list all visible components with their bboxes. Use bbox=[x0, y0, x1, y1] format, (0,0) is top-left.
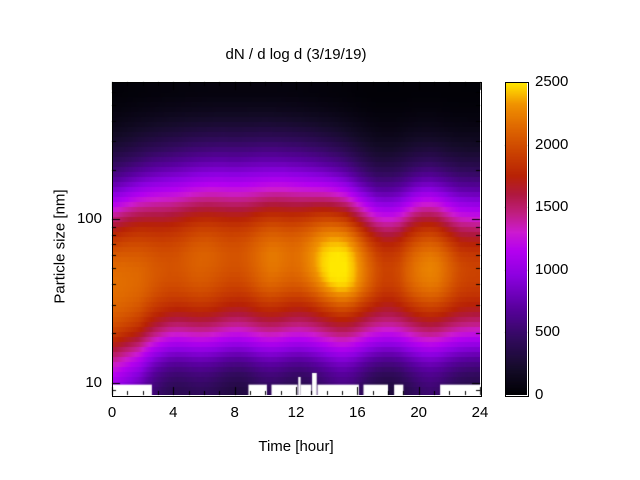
x-tick-label: 16 bbox=[327, 404, 387, 421]
heatmap-canvas bbox=[112, 82, 480, 395]
colorbar-tick-label: 1500 bbox=[535, 198, 568, 215]
colorbar-tick-label: 500 bbox=[535, 323, 560, 340]
x-tick-label: 12 bbox=[266, 404, 326, 421]
x-tick-label: 0 bbox=[82, 404, 142, 421]
colorbar-tick-label: 1000 bbox=[535, 261, 568, 278]
y-axis-label: Particle size [nm] bbox=[52, 147, 69, 347]
x-axis-label: Time [hour] bbox=[112, 438, 480, 455]
colorbar-tick-label: 0 bbox=[535, 386, 543, 403]
x-tick-label: 8 bbox=[205, 404, 265, 421]
x-tick-label: 24 bbox=[450, 404, 510, 421]
colorbar bbox=[505, 82, 527, 395]
x-tick-label: 20 bbox=[389, 404, 449, 421]
chart-figure: dN / d log d (3/19/19) Time [hour] Parti… bbox=[0, 0, 640, 480]
colorbar-canvas bbox=[505, 82, 527, 395]
y-tick-label: 100 bbox=[42, 210, 102, 227]
heatmap-plot-area bbox=[112, 82, 480, 395]
x-tick-label: 4 bbox=[143, 404, 203, 421]
colorbar-tick-label: 2000 bbox=[535, 136, 568, 153]
y-tick-label: 10 bbox=[42, 374, 102, 391]
chart-title: dN / d log d (3/19/19) bbox=[112, 46, 480, 63]
colorbar-tick-label: 2500 bbox=[535, 73, 568, 90]
